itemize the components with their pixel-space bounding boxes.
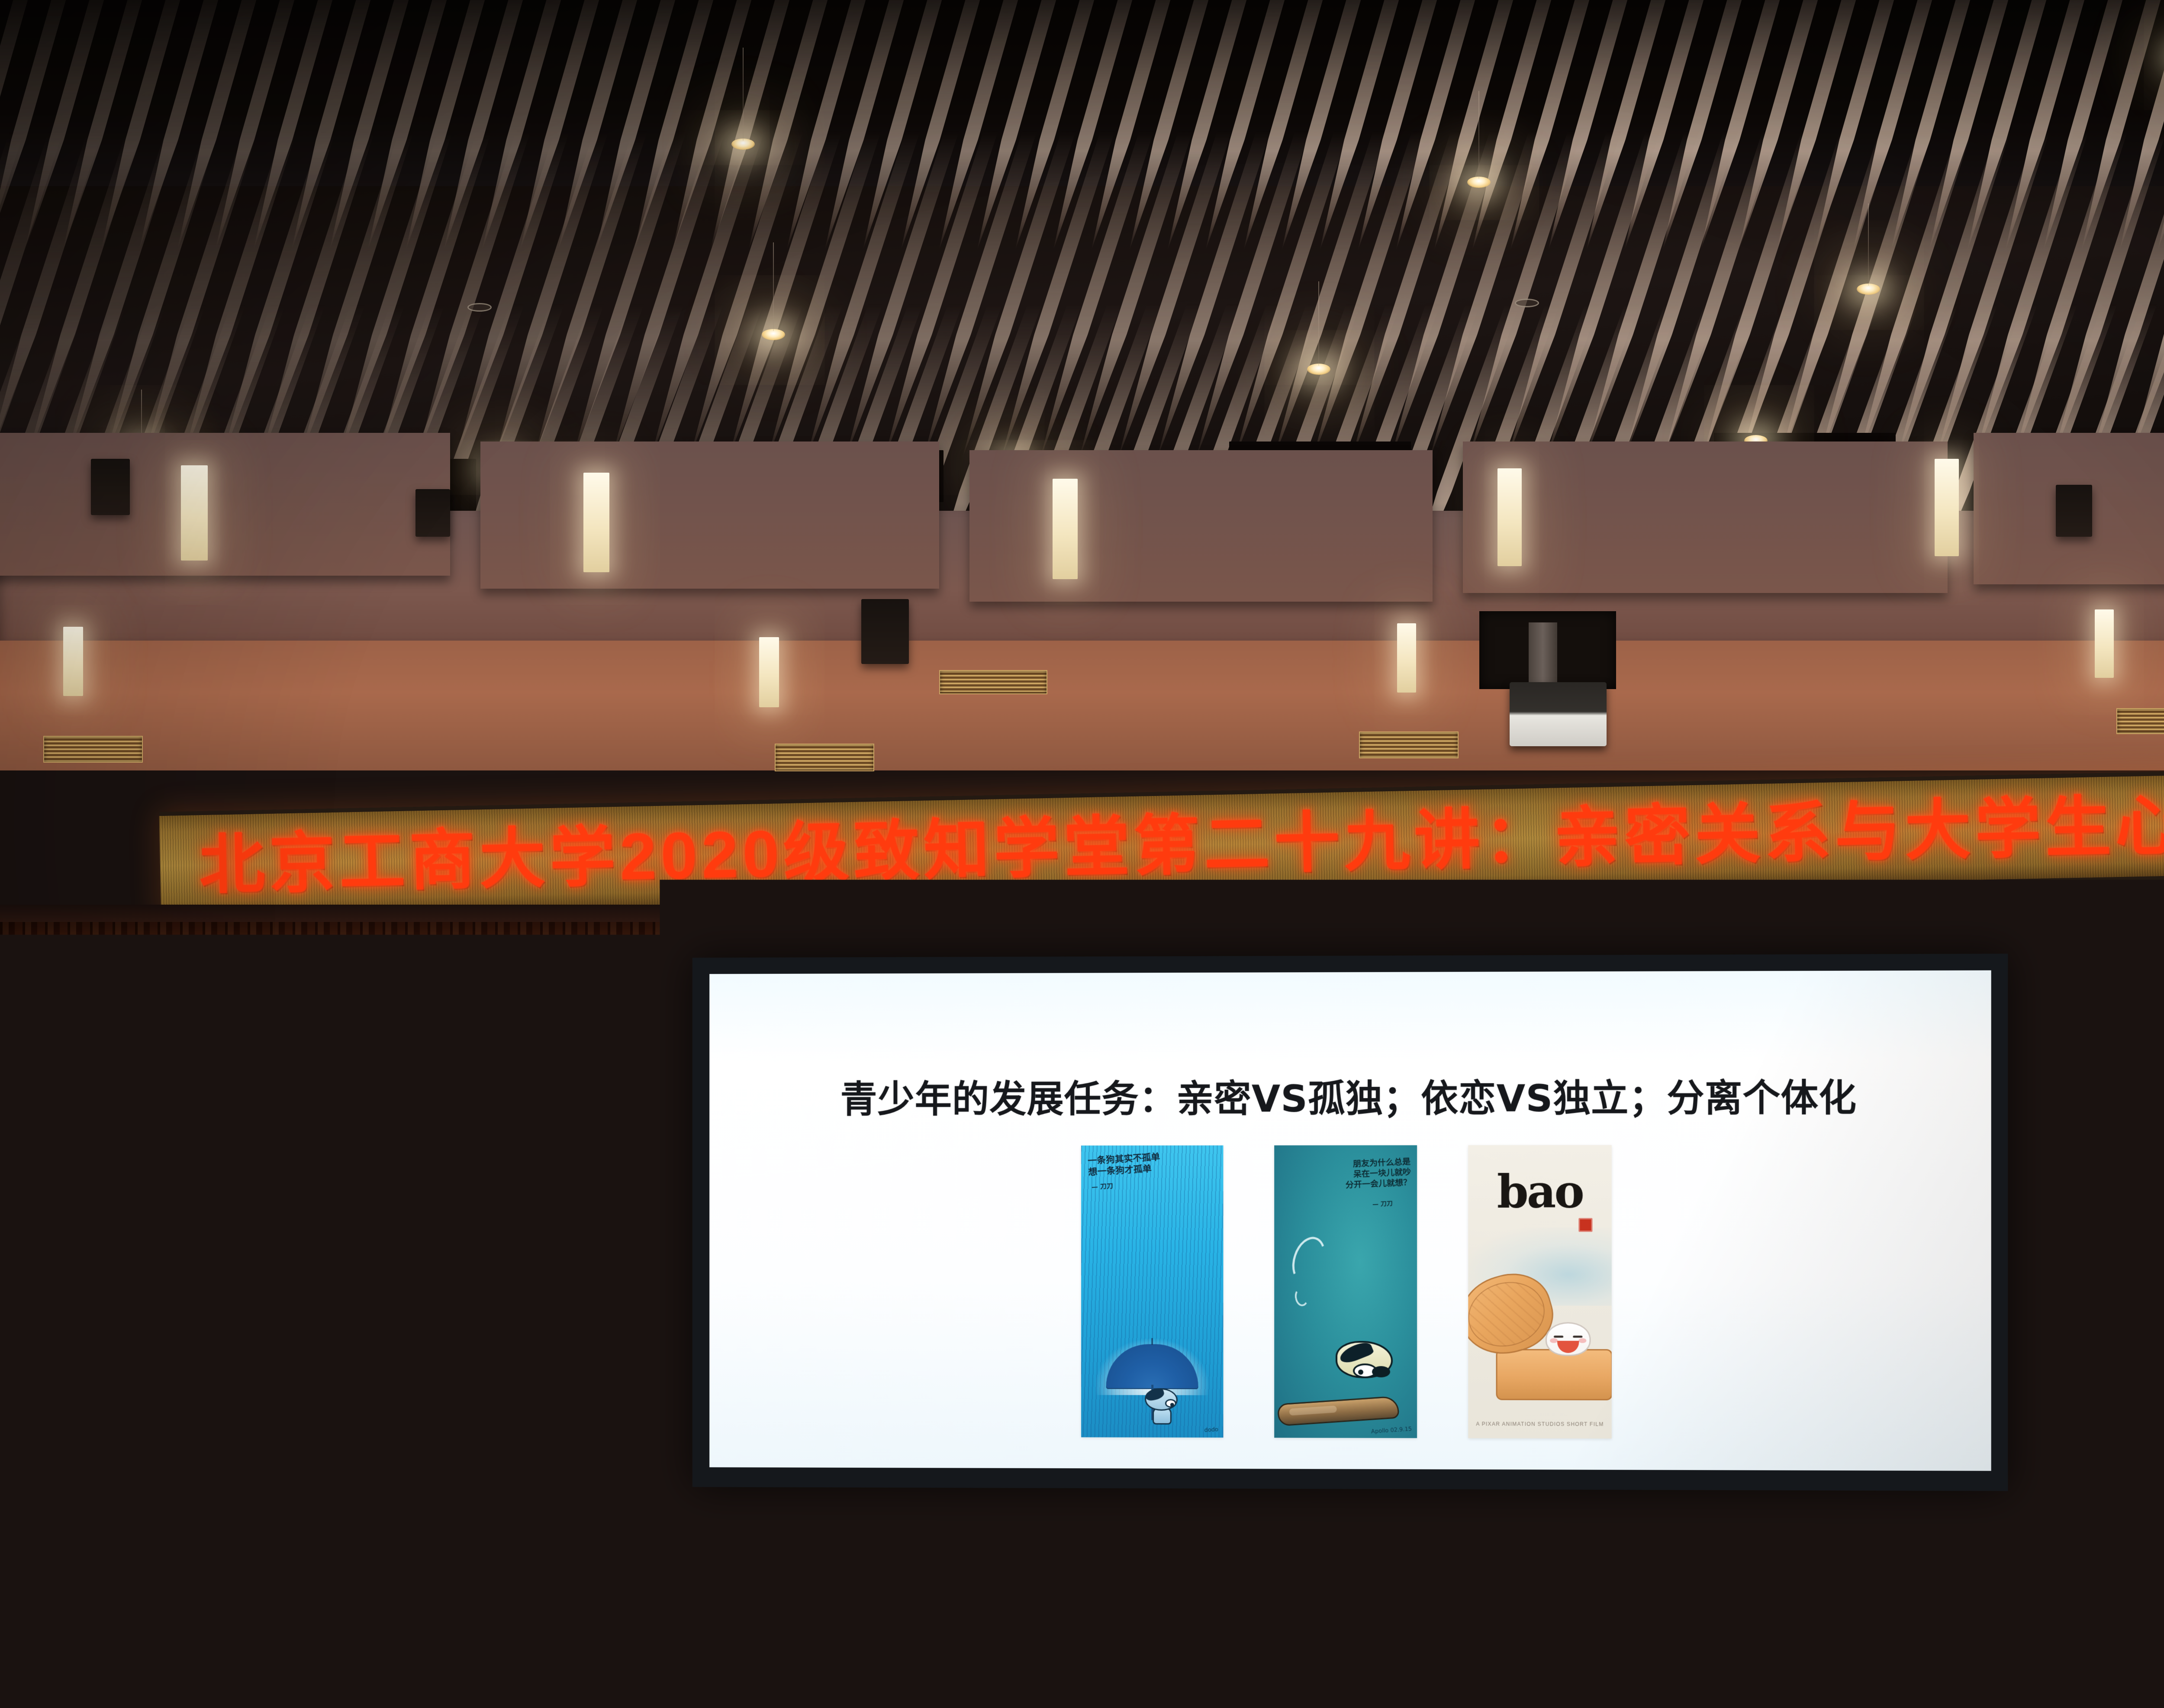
dog-ear bbox=[1144, 1387, 1166, 1402]
dog-character bbox=[1142, 1386, 1179, 1425]
baffle-fin bbox=[0, 0, 2, 251]
podium-side-panel bbox=[580, 1459, 597, 1701]
table-leg bbox=[207, 1438, 212, 1630]
wall-strip-light bbox=[1397, 623, 1416, 693]
projection-screen-frame: 青少年的发展任务：亲密VS孤独；依恋VS独立；分离个体化 一条狗其实不孤单想一条… bbox=[692, 954, 2008, 1491]
air-vent bbox=[43, 736, 143, 763]
air-vent bbox=[1359, 732, 1459, 758]
bao-blush bbox=[1550, 1338, 1558, 1343]
soffit-panel bbox=[1463, 442, 1948, 593]
pendant-rod bbox=[743, 48, 744, 141]
slide-image-bao-poster: bao A PIXAR ANIMATION STUDIOS SHORT FILM bbox=[1468, 1145, 1611, 1438]
bao-blush bbox=[1578, 1338, 1586, 1343]
baffle-fin bbox=[2162, 130, 2164, 459]
slide-image-rainy-dog: 一条狗其实不孤单想一条狗才孤单 — 刀刀 dodo bbox=[1081, 1145, 1223, 1437]
soffit-panel bbox=[480, 442, 939, 589]
dog-eye bbox=[1165, 1399, 1176, 1408]
pendant-rod bbox=[773, 242, 774, 331]
soffit-panel bbox=[969, 450, 1433, 602]
pendant-rod bbox=[1318, 281, 1319, 366]
red-seal-stamp bbox=[1578, 1218, 1592, 1232]
bao-eye bbox=[1573, 1336, 1582, 1338]
auditorium-photo: 北京工商大学2020级致知学堂第二十九讲：亲密关系与大学生心理成长 青少年的发展… bbox=[0, 0, 2164, 1708]
floor-cable bbox=[1320, 1610, 1407, 1684]
wall-strip-light bbox=[181, 465, 208, 561]
artist-mark: dodo bbox=[1204, 1426, 1218, 1434]
wall-strip-light bbox=[759, 637, 779, 707]
ceiling-projector bbox=[1510, 682, 1607, 746]
table-leg bbox=[171, 1441, 176, 1631]
nameplate-text: 张宏宇 bbox=[296, 1462, 343, 1481]
soffit-panel bbox=[0, 433, 450, 576]
driftwood-dog-handwriting: 朋友为什么总是呆在一块儿就吵分开一会儿就想？ bbox=[1345, 1157, 1412, 1191]
air-vent bbox=[939, 670, 1047, 694]
dog-character bbox=[1331, 1331, 1396, 1396]
bao-eye bbox=[1554, 1336, 1563, 1338]
wall-strip-light bbox=[63, 627, 83, 696]
ceiling-speaker bbox=[861, 599, 909, 664]
rainy-dog-signature: — 刀刀 bbox=[1091, 1182, 1113, 1191]
dog-brow bbox=[1337, 1340, 1374, 1366]
table-rail bbox=[26, 1492, 177, 1496]
slide-image-row: 一条狗其实不孤单想一条狗才孤单 — 刀刀 dodo bbox=[709, 1145, 1991, 1440]
wall-strip-light bbox=[1053, 479, 1078, 579]
side-table bbox=[0, 1429, 242, 1441]
ceiling-speaker bbox=[91, 459, 130, 515]
dog-snout bbox=[1372, 1366, 1390, 1377]
dog-head bbox=[1145, 1388, 1178, 1411]
wall-strip-light bbox=[2095, 609, 2114, 678]
driftwood-log bbox=[1277, 1396, 1400, 1427]
artist-mark: Apollo 02.9.15 bbox=[1371, 1426, 1412, 1435]
pendant-rod bbox=[1868, 203, 1869, 286]
dog-head bbox=[1336, 1341, 1393, 1378]
cable-connector-box bbox=[52, 1627, 82, 1647]
ceiling-speaker bbox=[2056, 485, 2092, 537]
air-vent bbox=[2116, 708, 2164, 734]
table-rail bbox=[3, 1475, 207, 1479]
recessed-downlight-ring bbox=[1515, 299, 1539, 307]
slide-image-driftwood-dog: 朋友为什么总是呆在一块儿就吵分开一会儿就想？ — 刀刀 Apollo 02.9.… bbox=[1274, 1145, 1417, 1438]
table-leg bbox=[3, 1441, 8, 1631]
soffit-lower-band bbox=[0, 641, 2164, 770]
bao-wordmark: bao bbox=[1468, 1170, 1611, 1215]
speaker-hair-side bbox=[435, 1371, 451, 1415]
wall-strip-light bbox=[1935, 459, 1959, 556]
steamer-base bbox=[1496, 1349, 1612, 1401]
pendant-rod bbox=[1478, 91, 1479, 179]
led-banner: 北京工商大学2020级致知学堂第二十九讲：亲密关系与大学生心理成长 bbox=[159, 767, 2164, 920]
air-vent bbox=[775, 744, 874, 771]
wall-strip-light bbox=[583, 473, 609, 572]
projection-screen: 青少年的发展任务：亲密VS孤独；依恋VS独立；分离个体化 一条狗其实不孤单想一条… bbox=[709, 970, 1991, 1471]
recessed-downlight-ring bbox=[467, 303, 492, 312]
wall-strip-light bbox=[1497, 468, 1522, 566]
slide-title: 青少年的发展任务：亲密VS孤独；依恋VS独立；分离个体化 bbox=[709, 1067, 1991, 1123]
led-banner-text: 北京工商大学2020级致知学堂第二十九讲：亲密关系与大学生心理成长 bbox=[159, 788, 2164, 899]
bao-dumpling-character bbox=[1546, 1322, 1591, 1356]
bao-mouth bbox=[1557, 1341, 1579, 1353]
nameplate: 张宏宇 bbox=[286, 1455, 353, 1487]
stage-curtain-right bbox=[1995, 922, 2164, 1597]
rainy-dog-handwriting: 一条狗其实不孤单想一条狗才孤单 bbox=[1088, 1151, 1161, 1178]
smoke-swirl-icon bbox=[1287, 1233, 1331, 1288]
ceiling-speaker bbox=[415, 489, 450, 537]
driftwood-dog-signature: — 刀刀 bbox=[1372, 1200, 1393, 1208]
bao-credit-line: A PIXAR ANIMATION STUDIOS SHORT FILM bbox=[1468, 1421, 1611, 1428]
smoke-swirl-icon bbox=[1294, 1287, 1310, 1308]
